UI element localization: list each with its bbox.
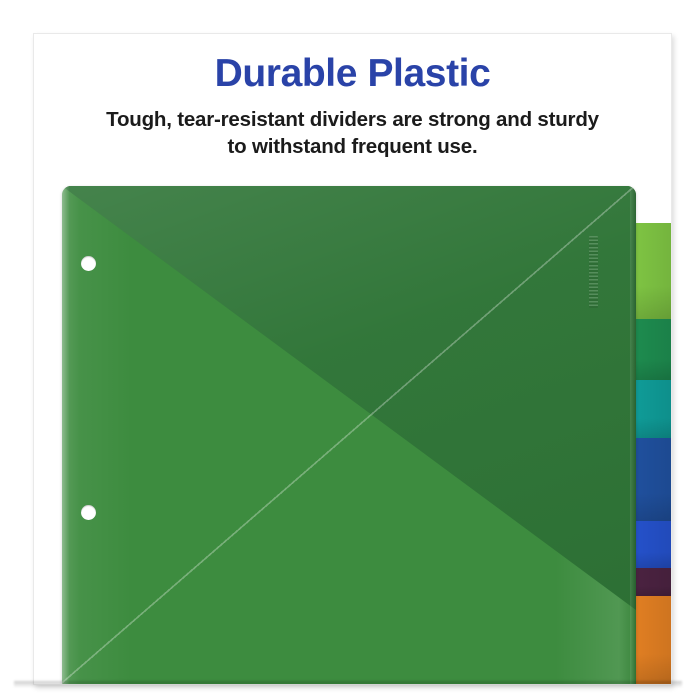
product-image-canvas: Durable Plastic Tough, tear-resistant di… (0, 0, 700, 700)
subhead-line-2: to withstand frequent use. (34, 133, 671, 160)
divider-right-edge (630, 186, 636, 684)
plastic-pocket-divider (62, 186, 636, 684)
reinforced-rib-strip (589, 236, 598, 308)
page-title: Durable Plastic (34, 34, 671, 97)
divider-left-edge (62, 186, 69, 684)
punch-hole-top (81, 256, 96, 271)
marketing-copy-block: Durable Plastic Tough, tear-resistant di… (34, 34, 671, 160)
subhead-line-1: Tough, tear-resistant dividers are stron… (34, 97, 671, 133)
card-base-shadow (14, 681, 682, 688)
product-card: Durable Plastic Tough, tear-resistant di… (33, 33, 672, 685)
punch-hole-bottom (81, 505, 96, 520)
